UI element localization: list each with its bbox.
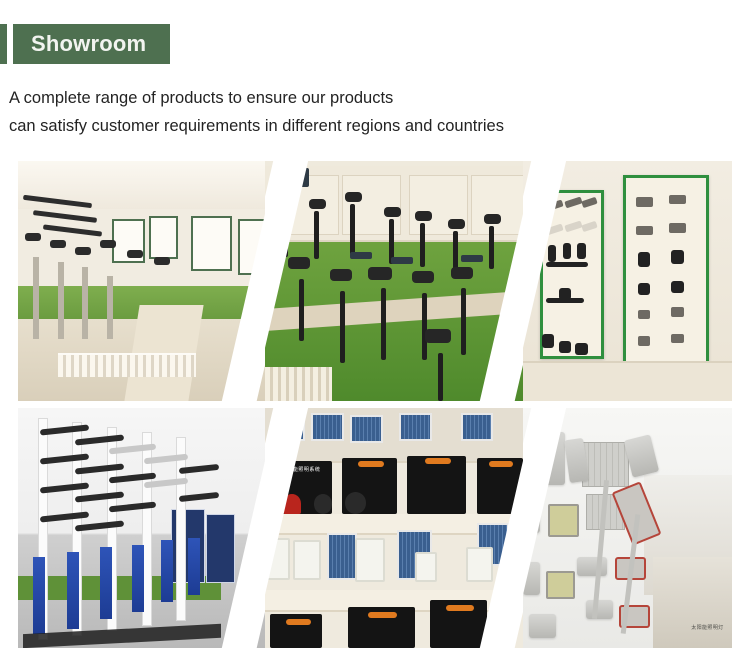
showroom-poster-text: 太阳能照明灯	[691, 624, 723, 631]
description-line-2: can satisfy customer requirements in dif…	[9, 112, 729, 140]
showroom-photo-3[interactable]	[523, 161, 732, 401]
photo-row-2: 太阳能照明系统	[18, 408, 732, 648]
showroom-photo-5[interactable]: 太阳能照明系统	[265, 408, 523, 648]
page-title: Showroom	[31, 31, 146, 57]
photo-2-scene	[265, 161, 523, 401]
badge-box: Showroom	[13, 24, 170, 64]
photo-4-scene	[18, 408, 265, 648]
showroom-photo-2[interactable]	[265, 161, 523, 401]
photo-3-scene	[523, 161, 732, 401]
photo-row-1	[18, 161, 732, 401]
showroom-section: Showroom A complete range of products to…	[0, 0, 750, 668]
photo-5-scene: 太阳能照明系统	[265, 408, 523, 648]
showroom-photo-1[interactable]	[18, 161, 265, 401]
showroom-photo-6[interactable]: 太阳能照明灯	[523, 408, 732, 648]
showroom-photo-4[interactable]	[18, 408, 265, 648]
section-badge: Showroom	[0, 24, 170, 64]
photo-1-scene	[18, 161, 265, 401]
description-line-1: A complete range of products to ensure o…	[9, 84, 729, 112]
section-description: A complete range of products to ensure o…	[9, 84, 729, 140]
photo-6-scene: 太阳能照明灯	[523, 408, 732, 648]
showroom-photo-grid: 太阳能照明系统	[18, 161, 732, 648]
badge-accent-bar	[0, 24, 7, 64]
